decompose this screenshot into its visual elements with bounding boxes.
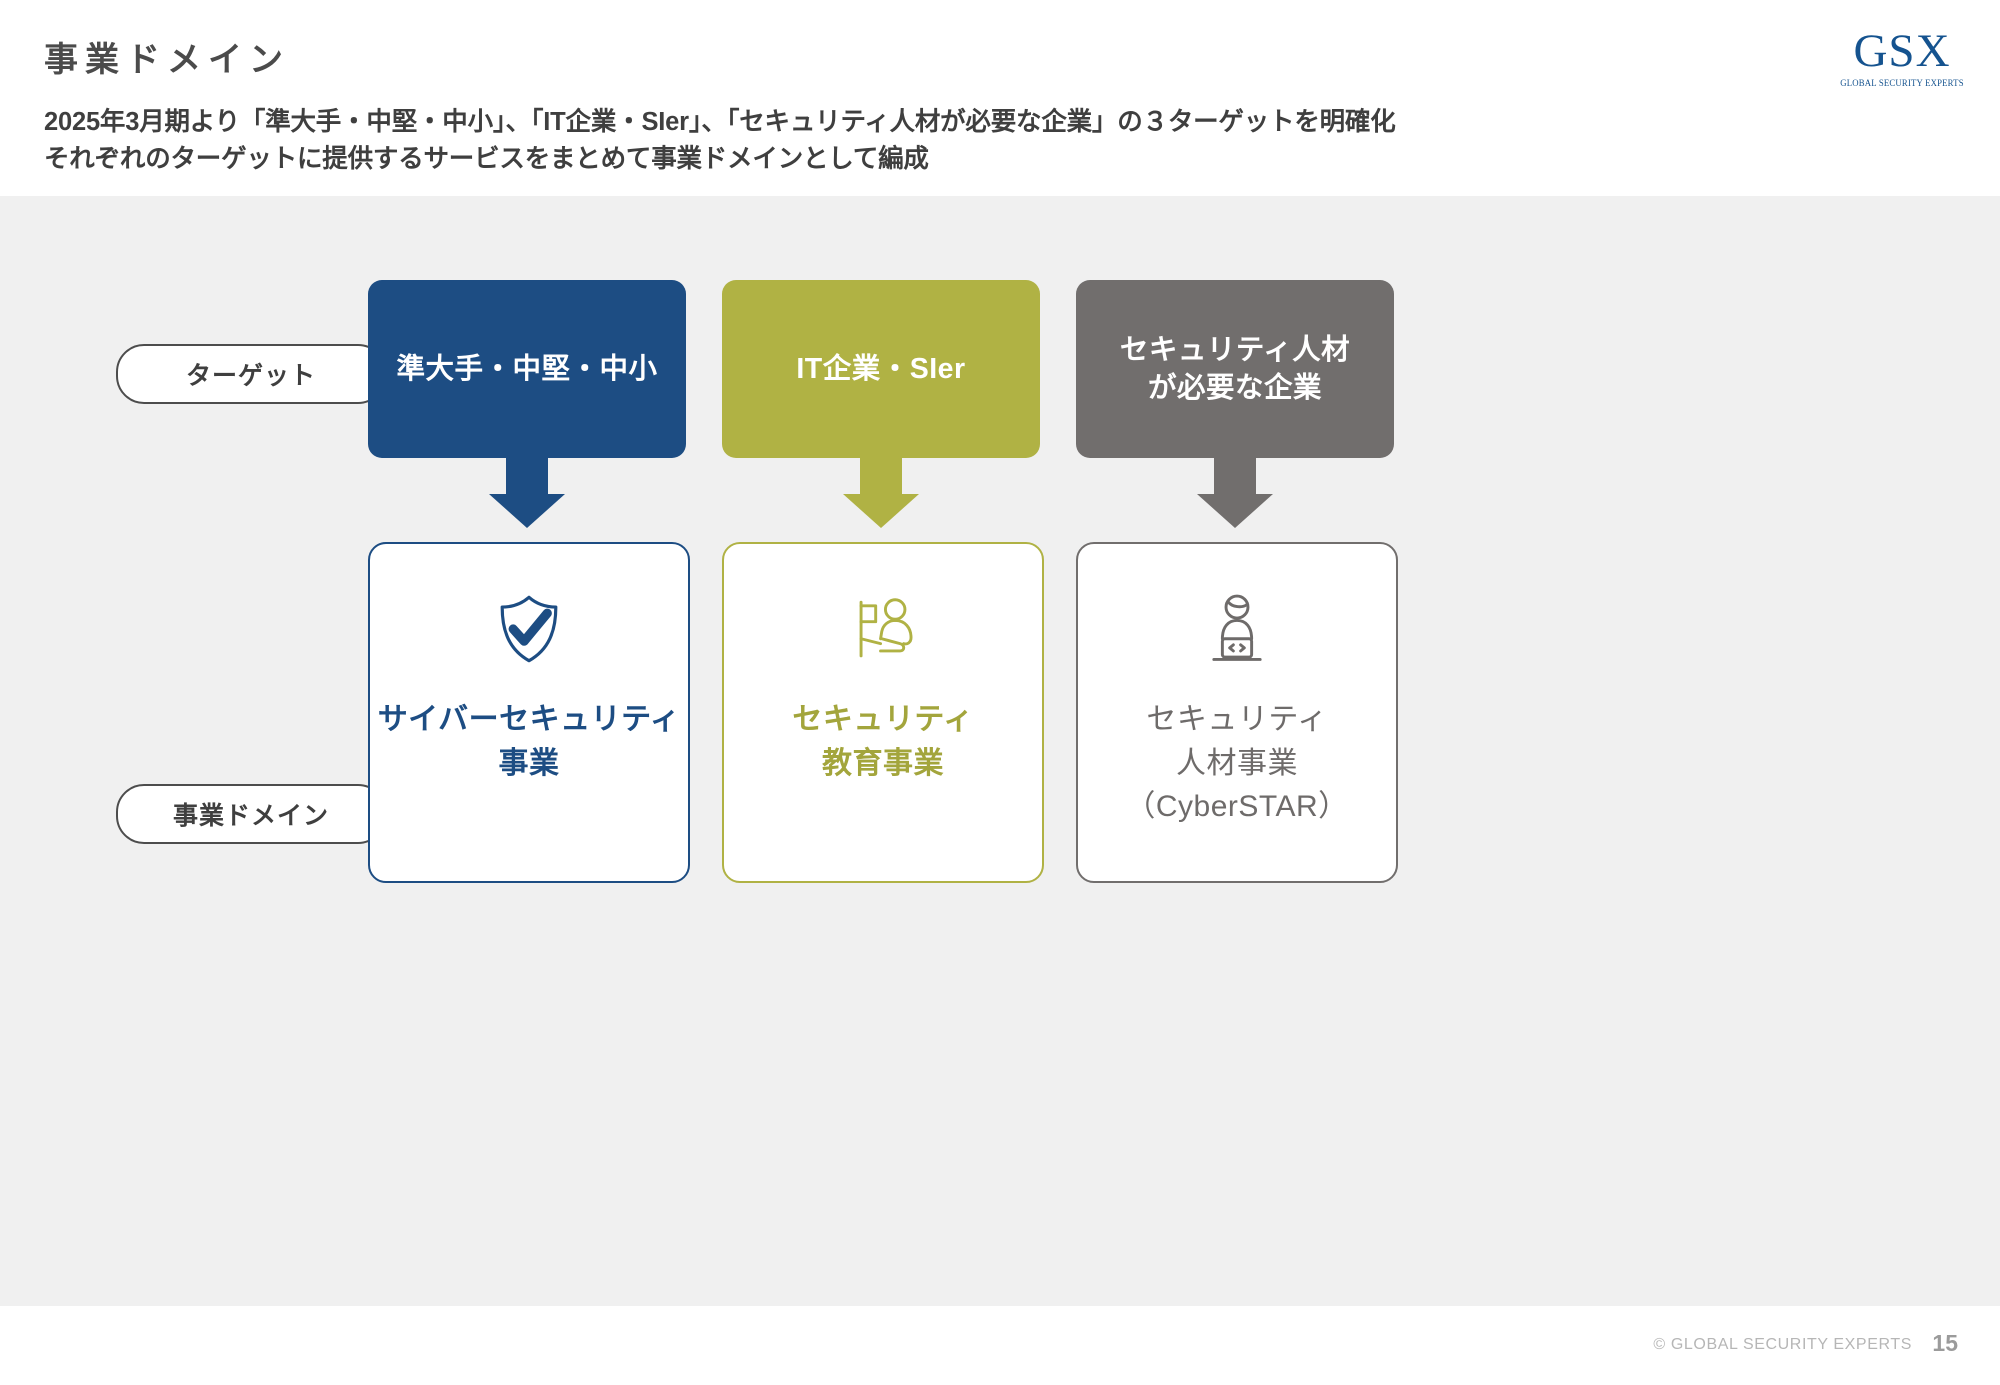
footer-page-number: 15 — [1932, 1330, 1958, 1357]
gsx-logo: GSX GLOBAL SECURITY EXPERTS — [1822, 28, 1982, 89]
engineer-laptop-code-icon — [1198, 590, 1276, 668]
domain-card-3-line1: セキュリティ — [1125, 698, 1348, 742]
domain-card-security-education: セキュリティ 教育事業 — [722, 542, 1044, 883]
subtitle-block: 2025年3月期より「準大手・中堅・中小」、「IT企業・SIer」、「セキュリテ… — [44, 104, 1396, 178]
domain-card-1-line2: 事業 — [378, 742, 681, 786]
subtitle-line-2: それぞれのターゲットに提供するサービスをまとめて事業ドメインとして編成 — [44, 141, 1396, 178]
target-box-3: セキュリティ人材 が必要な企業 — [1076, 280, 1394, 458]
page-title: 事業ドメイン — [44, 32, 290, 81]
target-box-3-line2: が必要な企業 — [1148, 372, 1322, 404]
target-box-2: IT企業・SIer — [722, 280, 1040, 458]
logo-wordmark: GSX — [1822, 28, 1982, 75]
shield-check-icon — [490, 590, 568, 668]
target-box-3-label: セキュリティ人材 が必要な企業 — [1120, 331, 1350, 408]
domain-card-2-line2: 教育事業 — [792, 742, 973, 786]
domain-card-security-talent: セキュリティ 人材事業 （CyberSTAR） — [1076, 542, 1398, 883]
domain-row: サイバーセキュリティ 事業 セキュリティ 教育事業 — [0, 542, 2000, 882]
domain-card-2-title: セキュリティ 教育事業 — [792, 698, 973, 785]
domain-card-3-line2: 人材事業 — [1125, 742, 1348, 786]
domain-card-3-line3: （CyberSTAR） — [1125, 785, 1348, 829]
slide-header: 事業ドメイン 2025年3月期より「準大手・中堅・中小」、「IT企業・SIer」… — [0, 0, 2000, 196]
domain-card-2-line1: セキュリティ — [792, 698, 973, 742]
target-box-1: 準大手・中堅・中小 — [368, 280, 686, 458]
domain-card-3-title: セキュリティ 人材事業 （CyberSTAR） — [1125, 698, 1348, 829]
footer-copyright: © GLOBAL SECURITY EXPERTS — [1653, 1336, 1912, 1354]
logo-tagline: GLOBAL SECURITY EXPERTS — [1828, 79, 1975, 89]
target-box-2-label: IT企業・SIer — [796, 350, 965, 388]
target-row: 準大手・中堅・中小 IT企業・SIer セキュリティ人材 が必要な企業 — [0, 280, 2000, 570]
slide-footer: © GLOBAL SECURITY EXPERTS 15 — [0, 1306, 2000, 1385]
target-box-1-line1: 準大手・中堅・中小 — [396, 353, 657, 385]
domain-card-1-line1: サイバーセキュリティ — [378, 698, 681, 742]
subtitle-line-1: 2025年3月期より「準大手・中堅・中小」、「IT企業・SIer」、「セキュリテ… — [44, 104, 1396, 141]
domain-card-1-title: サイバーセキュリティ 事業 — [378, 698, 681, 785]
target-box-3-line1: セキュリティ人材 — [1120, 334, 1350, 366]
diagram-panel: ターゲット 事業ドメイン 準大手・中堅・中小 IT企業・SIer セキュリティ人… — [0, 196, 2000, 1306]
domain-card-cyber-security: サイバーセキュリティ 事業 — [368, 542, 690, 883]
instructor-presenter-icon — [844, 590, 922, 668]
target-box-1-label: 準大手・中堅・中小 — [396, 350, 657, 388]
target-box-2-line1: IT企業・SIer — [796, 353, 965, 385]
